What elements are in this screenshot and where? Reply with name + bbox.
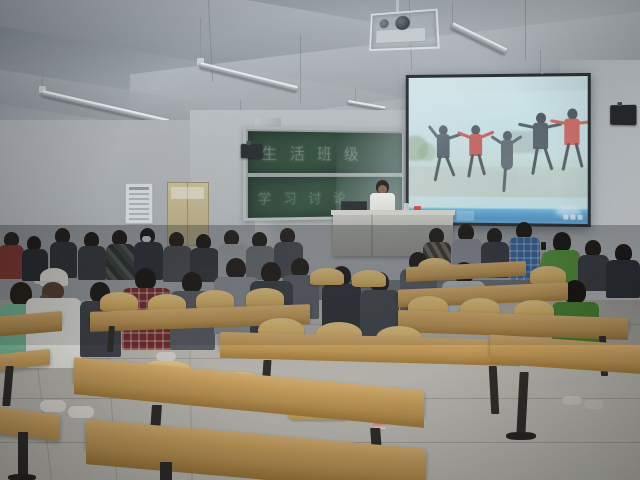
phone-icon	[541, 242, 546, 250]
face-mask-icon	[142, 236, 151, 242]
podium-edge	[371, 214, 373, 256]
desk-leg	[18, 432, 28, 480]
shoe	[156, 352, 176, 361]
shoe	[68, 406, 94, 418]
desk-foot	[506, 432, 536, 440]
light-rod	[355, 88, 356, 102]
person-dark-hoodie	[78, 232, 106, 280]
classroom-photo: 生 活 班 级 学 习 讨 论	[0, 0, 640, 480]
shoe	[562, 396, 582, 405]
wall-speaker-left-icon	[241, 144, 263, 158]
light-rod	[452, 2, 453, 22]
shoe	[584, 400, 604, 409]
desk-foot	[8, 474, 36, 480]
person-dark-hoodie	[606, 244, 640, 296]
ceiling-seam	[525, 0, 526, 60]
projector-mount	[396, 0, 399, 12]
projector-cage	[369, 9, 440, 51]
seat[interactable]	[246, 288, 284, 307]
jumper-3	[495, 127, 521, 199]
light-rod	[42, 44, 43, 88]
taskbar-item-presentation[interactable]	[456, 211, 474, 221]
jumper-1	[430, 115, 459, 189]
screen-hotspot	[555, 206, 581, 216]
seat[interactable]	[352, 270, 386, 287]
jumper-2	[463, 119, 491, 189]
wall-notice	[125, 183, 153, 224]
slide-photo	[409, 90, 588, 197]
seat[interactable]	[530, 266, 566, 284]
door-window	[171, 187, 204, 199]
seat[interactable]	[100, 292, 138, 311]
light-rod	[540, 50, 541, 74]
jumper-5	[559, 102, 587, 183]
shoe	[40, 400, 66, 412]
screen-surface	[409, 76, 588, 224]
projection-screen	[406, 73, 591, 227]
projector-sensor-icon	[379, 19, 389, 29]
desk-leg	[160, 462, 172, 480]
light-rod	[200, 18, 201, 60]
ceiling-seam	[300, 35, 301, 103]
podium-top	[331, 210, 455, 215]
wall-speaker-right-icon	[610, 105, 636, 125]
seat[interactable]	[310, 268, 344, 285]
